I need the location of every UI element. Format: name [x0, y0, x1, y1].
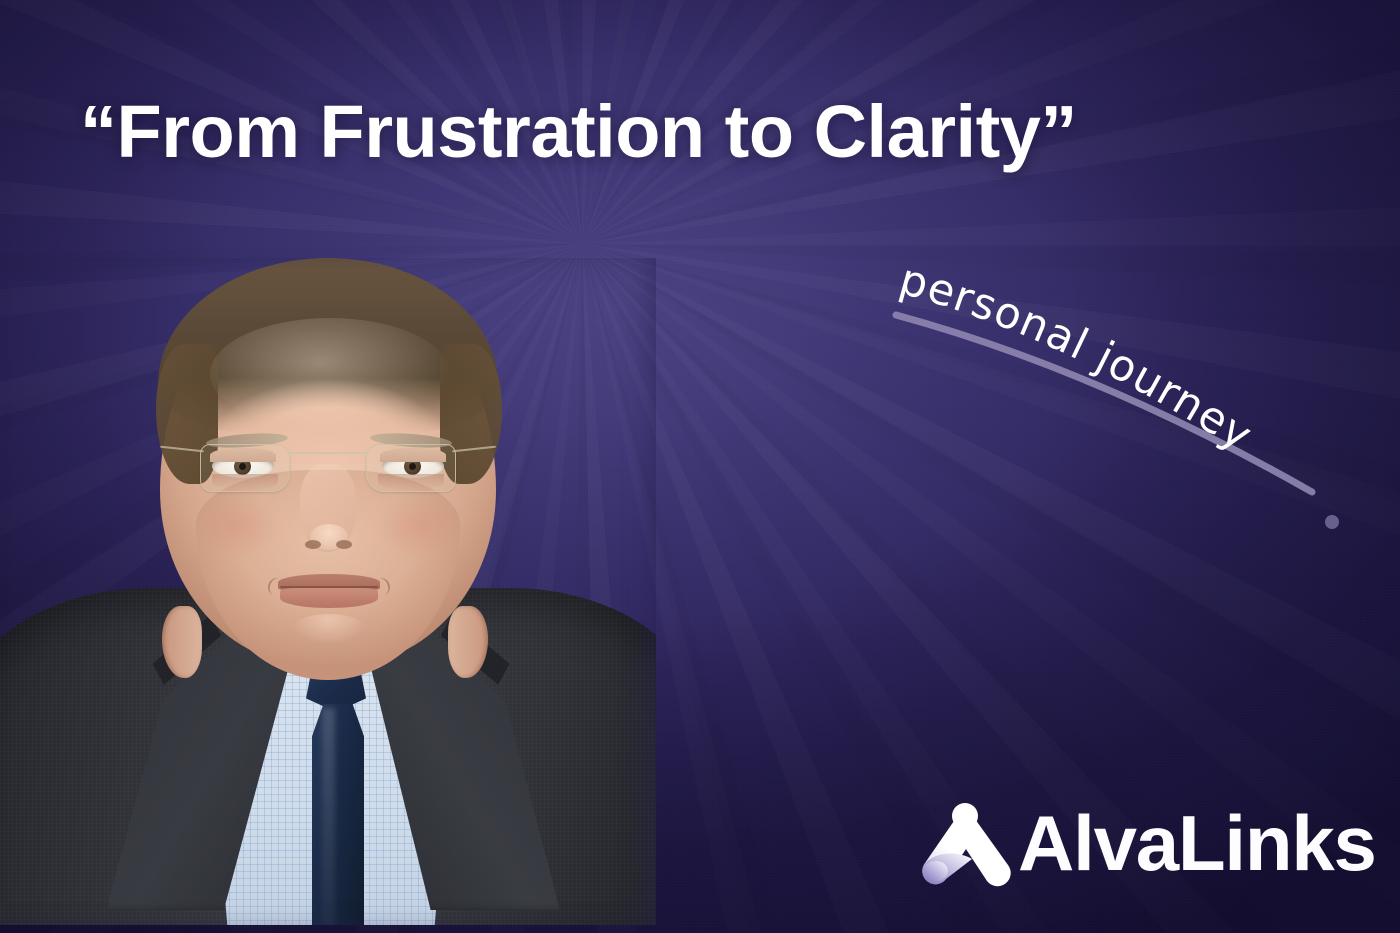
alvalinks-chevron-mark [916, 799, 1014, 887]
speaker-portrait [0, 258, 656, 925]
slide-headline: “From Frustration to Clarity” [80, 95, 1140, 169]
portrait-tie-highlight [322, 708, 335, 925]
portrait-nostril-right [336, 540, 352, 549]
alvalinks-logo[interactable]: AlvaLinks [916, 795, 1376, 891]
portrait-nostril-left [305, 540, 321, 549]
portrait-tie-blade [312, 704, 364, 925]
eyeglasses-lens-right [366, 444, 456, 492]
alvalinks-wordmark: AlvaLinks [1018, 804, 1376, 882]
portrait-forehead-highlight [210, 318, 450, 430]
portrait-cheek-right [376, 496, 460, 558]
eyeglasses-bridge [289, 452, 367, 454]
portrait-ear-left [162, 606, 202, 678]
eyeglasses-lens-left [200, 444, 290, 492]
slide-canvas: “From Frustration to Clarity” personal j… [0, 0, 1400, 933]
portrait-chin-highlight [292, 614, 366, 644]
chevron-fold-shadow [924, 861, 948, 881]
portrait-lower-lip [280, 588, 378, 608]
portrait-cheek-left [196, 496, 280, 558]
